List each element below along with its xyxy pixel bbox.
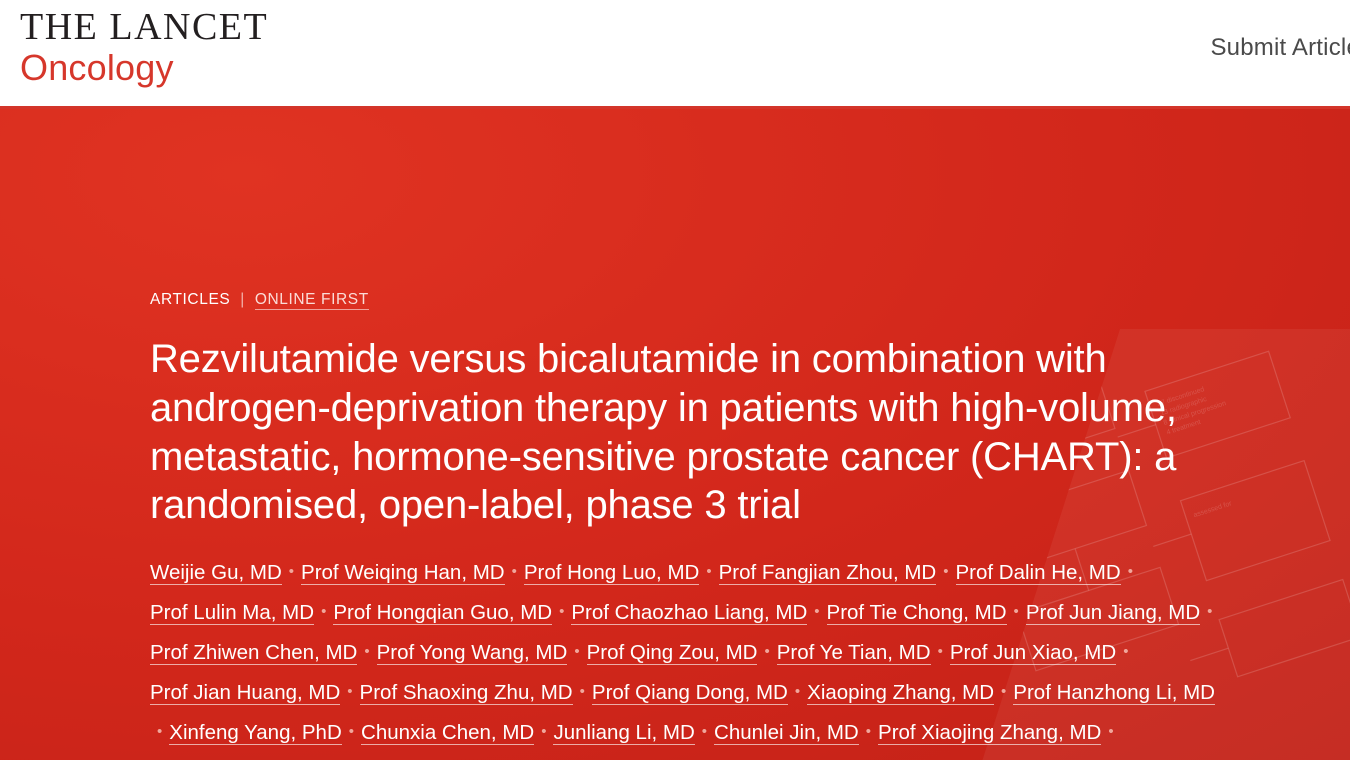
author-link[interactable]: Xinfeng Yang, PhD: [169, 721, 341, 745]
author-separator-dot: •: [795, 672, 800, 711]
author-link[interactable]: Prof Chaozhao Liang, MD: [571, 601, 807, 625]
author-link[interactable]: Chunxia Chen, MD: [361, 721, 534, 745]
author-link[interactable]: Junliang Li, MD: [553, 721, 694, 745]
author-separator-dot: •: [702, 712, 707, 751]
author-list: Weijie Gu, MD•Prof Weiqing Han, MD•Prof …: [150, 552, 1225, 760]
article-header-page: THE LANCET Oncology Submit Article: [0, 0, 1350, 760]
author-separator-dot: •: [1123, 632, 1128, 671]
author-link[interactable]: Xiaoping Zhang, MD: [807, 681, 994, 705]
author-link[interactable]: Prof Weiqing Han, MD: [301, 561, 505, 585]
author-separator-dot: •: [512, 552, 517, 591]
brand-the-lancet: THE LANCET: [20, 8, 268, 46]
author-separator-dot: •: [541, 712, 546, 751]
author-link[interactable]: Prof Tie Chong, MD: [827, 601, 1007, 625]
author-separator-dot: •: [347, 672, 352, 711]
author-separator-dot: •: [1001, 672, 1006, 711]
author-link[interactable]: Prof Dalin He, MD: [956, 561, 1121, 585]
author-link[interactable]: Prof Shaoxing Zhu, MD: [360, 681, 573, 705]
author-separator-dot: •: [1128, 552, 1133, 591]
article-type-line: ARTICLES | ONLINE FIRST: [150, 291, 1350, 309]
author-separator-dot: •: [814, 592, 819, 631]
author-link[interactable]: Prof Hong Luo, MD: [524, 561, 699, 585]
author-separator-dot: •: [866, 712, 871, 751]
submit-article-link[interactable]: Submit Article: [1210, 34, 1350, 62]
author-link[interactable]: Prof Jun Xiao, MD: [950, 641, 1116, 665]
author-separator-dot: •: [886, 756, 891, 760]
brand-oncology: Oncology: [20, 50, 268, 86]
author-link[interactable]: Prof Hongqian Guo, MD: [333, 601, 552, 625]
author-link[interactable]: Prof Yong Wang, MD: [377, 641, 568, 665]
author-separator-dot: •: [559, 592, 564, 631]
author-link[interactable]: Prof Xiaojing Zhang, MD: [878, 721, 1101, 745]
author-separator-dot: •: [1014, 592, 1019, 631]
author-separator-dot: •: [764, 632, 769, 671]
article-header-content: ARTICLES | ONLINE FIRST Rezvilutamide ve…: [150, 109, 1350, 760]
author-separator-dot: •: [1108, 712, 1113, 751]
author-link[interactable]: Prof Fangjian Zhou, MD: [719, 561, 937, 585]
author-separator-dot: •: [157, 712, 162, 751]
author-separator-dot: •: [580, 672, 585, 711]
author-separator-dot: •: [706, 552, 711, 591]
author-link[interactable]: Weijie Gu, MD: [150, 561, 282, 585]
author-link[interactable]: Prof Hanzhong Li, MD: [1013, 681, 1215, 705]
author-link[interactable]: Prof Zhiwen Chen, MD: [150, 641, 357, 665]
kicker-separator: |: [240, 291, 245, 308]
author-separator-dot: •: [364, 632, 369, 671]
author-separator-dot: •: [938, 632, 943, 671]
online-first-link[interactable]: ONLINE FIRST: [255, 291, 369, 310]
author-separator-dot: •: [405, 756, 410, 760]
author-separator-dot: •: [943, 552, 948, 591]
author-separator-dot: •: [349, 712, 354, 751]
article-hero-banner: 218 ongoing at interim progression-free …: [0, 109, 1350, 760]
author-link[interactable]: Prof Qiang Dong, MD: [592, 681, 788, 705]
author-link[interactable]: Prof Qing Zou, MD: [587, 641, 758, 665]
author-separator-dot: •: [1207, 592, 1212, 631]
author-separator-dot: •: [773, 756, 778, 760]
author-link[interactable]: Prof Ye Tian, MD: [777, 641, 931, 665]
lancet-oncology-logo[interactable]: THE LANCET Oncology: [20, 8, 268, 86]
article-type-label: ARTICLES: [150, 291, 230, 308]
author-separator-dot: •: [321, 592, 326, 631]
site-masthead: THE LANCET Oncology Submit Article: [0, 0, 1350, 109]
author-link[interactable]: Prof Jian Huang, MD: [150, 681, 340, 705]
author-link[interactable]: Prof Jun Jiang, MD: [1026, 601, 1200, 625]
author-separator-dot: •: [574, 632, 579, 671]
author-link[interactable]: Chunlei Jin, MD: [714, 721, 859, 745]
author-separator-dot: •: [289, 552, 294, 591]
article-title: Rezvilutamide versus bicalutamide in com…: [150, 335, 1260, 530]
author-link[interactable]: Prof Lulin Ma, MD: [150, 601, 314, 625]
